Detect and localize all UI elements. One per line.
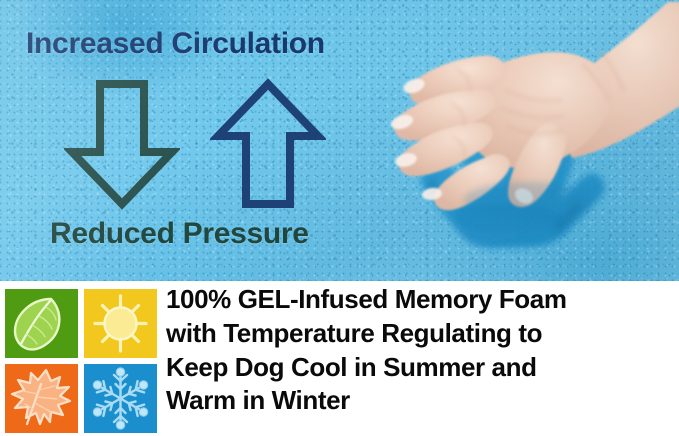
four-seasons-icon-grid xyxy=(5,289,157,432)
copy-line-1: 100% GEL-Infused Memory Foam xyxy=(166,283,676,317)
product-info-panel: 100% GEL-Infused Memory Foam with Temper… xyxy=(0,281,679,436)
copy-line-4: Warm in Winter xyxy=(166,384,676,418)
foam-photo-panel: Increased Circulation Reduced Pressure xyxy=(0,0,679,281)
maple-leaf-icon xyxy=(5,364,78,433)
reduced-pressure-label: Reduced Pressure xyxy=(50,217,309,251)
season-tile-summer xyxy=(84,289,157,358)
copy-line-3: Keep Dog Cool in Summer and xyxy=(166,351,676,385)
reduced-pressure-down-arrow xyxy=(64,78,180,210)
sun-icon xyxy=(84,289,157,358)
season-tile-autumn xyxy=(5,364,78,433)
season-tile-winter xyxy=(84,364,157,433)
increased-circulation-label: Increased Circulation xyxy=(26,27,325,61)
snowflake-icon xyxy=(84,364,157,433)
hand-contact-shadow xyxy=(464,182,592,218)
leaf-icon xyxy=(5,289,78,358)
increased-circulation-up-arrow xyxy=(210,78,326,210)
hand-on-foam-image xyxy=(352,0,679,281)
copy-line-2: with Temperature Regulating to xyxy=(166,317,676,351)
season-tile-spring xyxy=(5,289,78,358)
product-description-text: 100% GEL-Infused Memory Foam with Temper… xyxy=(166,283,676,418)
